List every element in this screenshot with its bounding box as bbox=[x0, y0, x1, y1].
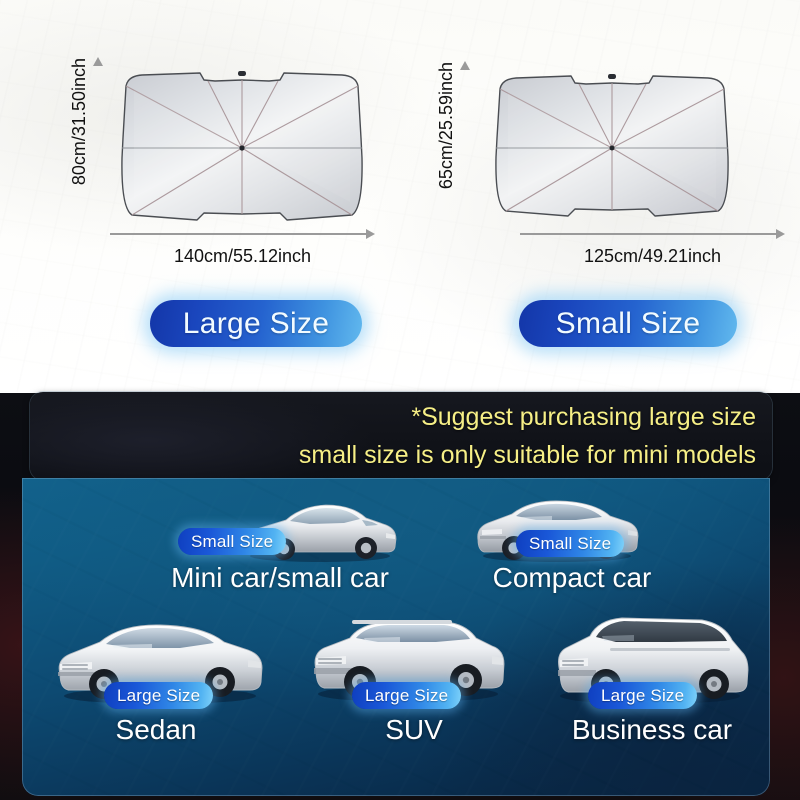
large-height-dimension: 80cm/31.50inch bbox=[70, 58, 106, 238]
large-width-dimension: 140cm/55.12inch bbox=[110, 228, 375, 267]
sedan-size-badge[interactable]: Large Size bbox=[104, 682, 213, 709]
sedan-label: Sedan bbox=[22, 714, 290, 746]
business-car-label: Business car bbox=[534, 714, 770, 746]
width-arrow-right-icon bbox=[520, 228, 785, 240]
large-size-panel: 80cm/31.50inch bbox=[0, 0, 415, 392]
sunshade-dimensions-section: 80cm/31.50inch bbox=[0, 0, 800, 392]
vehicle-card-sedan[interactable]: Large Size Sedan bbox=[22, 606, 290, 776]
small-width-dimension: 125cm/49.21inch bbox=[520, 228, 785, 267]
large-height-label: 80cm/31.50inch bbox=[70, 58, 88, 185]
width-arrow-right-icon bbox=[110, 228, 375, 240]
compact-car-size-badge[interactable]: Small Size bbox=[516, 530, 624, 557]
large-sunshade-illustration bbox=[112, 68, 372, 228]
suggestion-line-1: *Suggest purchasing large size bbox=[299, 398, 756, 436]
vehicle-card-mini-car[interactable]: Small Size Mini car/small car bbox=[130, 482, 430, 602]
large-size-badge-label: Large Size bbox=[183, 307, 329, 341]
small-size-panel: 65cm/25.59inch bbox=[415, 0, 800, 392]
large-size-badge[interactable]: Large Size bbox=[150, 300, 362, 347]
suv-label: SUV bbox=[294, 714, 534, 746]
compact-car-label: Compact car bbox=[422, 562, 722, 594]
small-sunshade-illustration bbox=[487, 72, 737, 222]
purchase-suggestion-text: *Suggest purchasing large size small siz… bbox=[299, 398, 756, 474]
large-width-label: 140cm/55.12inch bbox=[110, 246, 375, 267]
sedan-size-badge-label: Large Size bbox=[117, 686, 200, 706]
suv-size-badge[interactable]: Large Size bbox=[352, 682, 461, 709]
small-width-label: 125cm/49.21inch bbox=[520, 246, 785, 267]
vehicle-card-compact-car[interactable]: Small Size Compact car bbox=[422, 482, 722, 602]
vehicle-card-suv[interactable]: Large Size SUV bbox=[294, 606, 534, 776]
small-size-badge-label: Small Size bbox=[556, 307, 701, 341]
business-car-size-badge-label: Large Size bbox=[601, 686, 684, 706]
mini-car-label: Mini car/small car bbox=[130, 562, 430, 594]
suv-size-badge-label: Large Size bbox=[365, 686, 448, 706]
product-size-infographic: 80cm/31.50inch bbox=[0, 0, 800, 800]
business-car-size-badge[interactable]: Large Size bbox=[588, 682, 697, 709]
compact-car-size-badge-label: Small Size bbox=[529, 534, 611, 554]
vehicle-card-business-car[interactable]: Large Size Business car bbox=[534, 606, 770, 776]
vehicle-grid-panel: Small Size Mini car/small car bbox=[22, 478, 770, 796]
purchase-suggestion-banner: *Suggest purchasing large size small siz… bbox=[30, 392, 772, 480]
small-height-label: 65cm/25.59inch bbox=[437, 62, 455, 189]
mini-car-size-badge-label: Small Size bbox=[191, 532, 273, 552]
mini-car-size-badge[interactable]: Small Size bbox=[178, 528, 286, 555]
small-size-badge[interactable]: Small Size bbox=[519, 300, 737, 347]
small-height-dimension: 65cm/25.59inch bbox=[437, 62, 473, 230]
suggestion-line-2: small size is only suitable for mini mod… bbox=[299, 436, 756, 474]
vehicle-compatibility-section: *Suggest purchasing large size small siz… bbox=[0, 392, 800, 800]
